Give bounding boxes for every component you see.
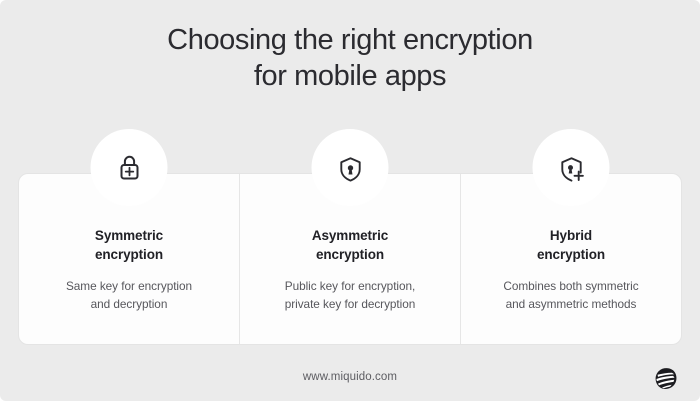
footer-website-url: www.miquido.com [0, 371, 700, 383]
card-hybrid-encryption[interactable]: Hybrid encryption Combines both symmetri… [460, 174, 681, 344]
page-title-line-2: for mobile apps [0, 58, 700, 94]
page-title-line-1: Choosing the right encryption [0, 22, 700, 58]
card-description-line-2: and decryption [66, 295, 192, 313]
padlock-plus-icon [91, 129, 168, 206]
card-heading-line-2: encryption [312, 245, 388, 264]
card-heading-line-1: Symmetric [95, 228, 163, 243]
card-description-line-1: Public key for encryption, [285, 279, 416, 293]
card-heading-line-2: encryption [537, 245, 605, 264]
card-symmetric-encryption[interactable]: Symmetric encryption Same key for encryp… [19, 174, 239, 344]
cards-container: Symmetric encryption Same key for encryp… [18, 173, 682, 345]
page-title: Choosing the right encryption for mobile… [0, 22, 700, 94]
card-asymmetric-encryption[interactable]: Asymmetric encryption Public key for enc… [239, 174, 460, 344]
shield-keyhole-plus-icon [533, 129, 610, 206]
card-heading-line-2: encryption [95, 245, 163, 264]
miquido-logo [652, 365, 680, 393]
card-description-line-1: Combines both symmetric [503, 279, 638, 293]
card-heading-line-1: Hybrid [550, 228, 592, 243]
card-heading: Hybrid encryption [537, 226, 605, 264]
card-description: Combines both symmetric and asymmetric m… [503, 277, 638, 313]
card-description-line-1: Same key for encryption [66, 279, 192, 293]
card-description: Public key for encryption, private key f… [285, 277, 416, 313]
card-heading: Symmetric encryption [95, 226, 163, 264]
card-heading: Asymmetric encryption [312, 226, 388, 264]
card-description: Same key for encryption and decryption [66, 277, 192, 313]
card-description-line-2: private key for decryption [285, 295, 416, 313]
slide-canvas: Choosing the right encryption for mobile… [0, 0, 700, 401]
shield-keyhole-icon [312, 129, 389, 206]
card-description-line-2: and asymmetric methods [503, 295, 638, 313]
card-heading-line-1: Asymmetric [312, 228, 388, 243]
